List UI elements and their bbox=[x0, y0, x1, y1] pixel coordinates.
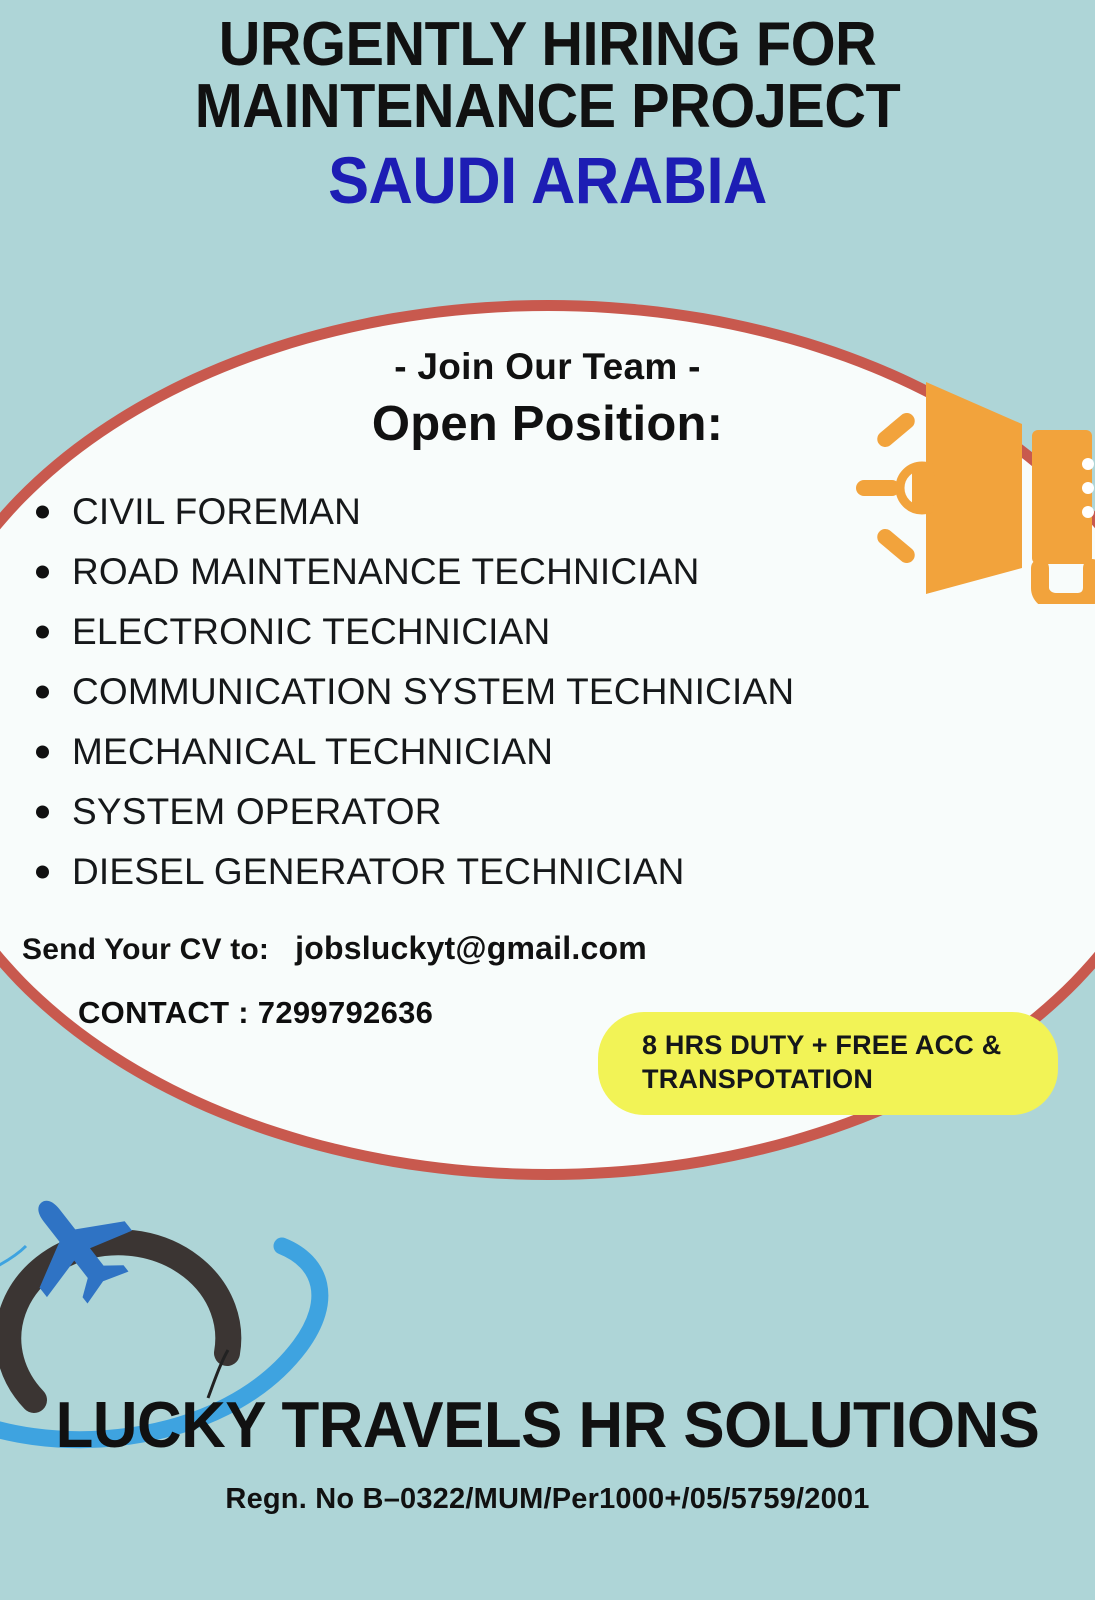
send-cv-row: Send Your CV to: jobsluckyt@gmail.com bbox=[0, 930, 1095, 967]
cv-email-address[interactable]: jobsluckyt@gmail.com bbox=[295, 930, 647, 967]
contact-number[interactable]: CONTACT : 7299792636 bbox=[78, 995, 433, 1031]
status-badge: 8 HRS DUTY + FREE ACC & TRANSPOTATION bbox=[598, 1012, 1058, 1115]
send-cv-label: Send Your CV to: bbox=[22, 933, 269, 967]
poster-footer: LUCKY TRAVELS HR SOLUTIONS Regn. No B–03… bbox=[0, 1392, 1095, 1516]
badge-line-2: TRANSPOTATION bbox=[642, 1062, 1034, 1096]
position-label: COMMUNICATION SYSTEM TECHNICIAN bbox=[72, 671, 794, 712]
position-label: MECHANICAL TECHNICIAN bbox=[72, 731, 553, 772]
list-item: MECHANICAL TECHNICIAN bbox=[36, 722, 1095, 782]
position-label: SYSTEM OPERATOR bbox=[72, 791, 442, 832]
bullet-icon bbox=[36, 805, 49, 818]
bullet-icon bbox=[36, 625, 49, 638]
headline-country: SAUDI ARABIA bbox=[38, 137, 1056, 213]
company-name: LUCKY TRAVELS HR SOLUTIONS bbox=[27, 1392, 1067, 1457]
bullet-icon bbox=[36, 865, 49, 878]
list-item: DIESEL GENERATOR TECHNICIAN bbox=[36, 842, 1095, 902]
list-item: ELECTRONIC TECHNICIAN bbox=[36, 602, 1095, 662]
megaphone-icon bbox=[826, 372, 1095, 604]
poster-header: URGENTLY HIRING FOR MAINTENANCE PROJECT … bbox=[0, 0, 1095, 213]
position-label: ROAD MAINTENANCE TECHNICIAN bbox=[72, 551, 700, 592]
registration-number: Regn. No B–0322/MUM/Per1000+/05/5759/200… bbox=[0, 1483, 1095, 1516]
job-advert-poster: URGENTLY HIRING FOR MAINTENANCE PROJECT … bbox=[0, 0, 1095, 1600]
headline-line-1: URGENTLY HIRING FOR bbox=[38, 0, 1056, 74]
position-label: DIESEL GENERATOR TECHNICIAN bbox=[72, 851, 685, 892]
bullet-icon bbox=[36, 745, 49, 758]
headline-line-2: MAINTENANCE PROJECT bbox=[38, 74, 1056, 136]
bullet-icon bbox=[36, 685, 49, 698]
position-label: ELECTRONIC TECHNICIAN bbox=[72, 611, 550, 652]
position-label: CIVIL FOREMAN bbox=[72, 491, 361, 532]
list-item: COMMUNICATION SYSTEM TECHNICIAN bbox=[36, 662, 1095, 722]
list-item: SYSTEM OPERATOR bbox=[36, 782, 1095, 842]
bullet-icon bbox=[36, 505, 49, 518]
badge-line-1: 8 HRS DUTY + FREE ACC & bbox=[642, 1028, 1034, 1062]
bullet-icon bbox=[36, 565, 49, 578]
